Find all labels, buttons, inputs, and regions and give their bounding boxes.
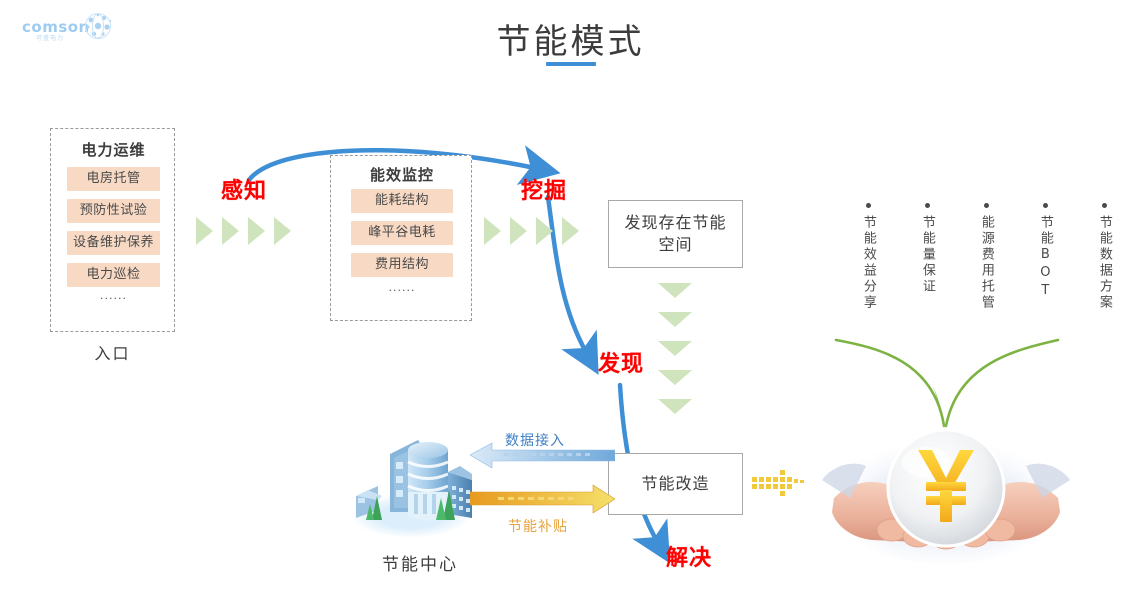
triangle-down-icon [658,312,692,327]
triangle-right-icon [222,217,239,245]
service-list: 节能效益分享 节能量保证 能源费用托管 节能BOT 节能数据方案 [855,203,1117,311]
entry-item-3[interactable]: 设备维护保养 [67,231,160,255]
service-item-4[interactable]: 节能数据方案 [1091,203,1117,311]
stage-label-discover: 发现 [598,346,644,378]
group-box-monitor: 能效监控 能耗结构 峰平谷电耗 费用结构 ······ [330,155,472,321]
exchange-arrows [470,440,615,520]
service-item-3[interactable]: 节能BOT [1032,203,1058,311]
triangle-right-icon [196,217,213,245]
group-heading-monitor: 能效监控 [331,164,473,185]
stage-label-mine: 挖掘 [521,173,567,205]
stage-label-solve: 解决 [666,540,712,572]
entry-item-1[interactable]: 电房托管 [67,167,160,191]
hands-holding-icon [818,330,1138,595]
arrow-row-mine [484,217,579,245]
service-item-label: 节能量保证 [920,215,934,295]
arrow-row-perceive [196,217,291,245]
title-underline [546,62,596,66]
bullet-dot-icon [925,203,930,208]
pixel-arrow-right-icon [752,465,812,497]
entry-item-2[interactable]: 预防性试验 [67,199,160,223]
triangle-down-icon [658,370,692,385]
triangle-right-icon [248,217,265,245]
service-item-label: 节能BOT [1038,215,1052,301]
building-icon [348,424,478,542]
node-energy-saving-space[interactable]: 发现存在节能 空间 [608,200,743,268]
service-item-0[interactable]: 节能效益分享 [855,203,881,311]
group-heading-entry: 电力运维 [51,139,176,160]
node-energy-retrofit[interactable]: 节能改造 [608,453,743,515]
center-caption: 节能中心 [355,550,485,575]
triangle-down-icon [658,341,692,356]
monitor-item-1[interactable]: 能耗结构 [351,189,453,213]
service-item-2[interactable]: 能源费用托管 [973,203,999,311]
triangle-right-icon [510,217,527,245]
service-item-label: 节能效益分享 [861,215,875,311]
monitor-item-2[interactable]: 峰平谷电耗 [351,221,453,245]
page-title: 节能模式 [0,14,1141,63]
entry-ellipsis: ······ [51,292,176,305]
bullet-dot-icon [984,203,989,208]
triangle-right-icon [562,217,579,245]
label-data-access: 数据接入 [505,430,565,450]
entry-item-4[interactable]: 电力巡检 [67,263,160,287]
triangle-right-icon [274,217,291,245]
service-item-label: 节能数据方案 [1097,215,1111,311]
group-box-entry: 电力运维 电房托管 预防性试验 设备维护保养 电力巡检 ······ [50,128,175,332]
triangle-right-icon [484,217,501,245]
service-item-1[interactable]: 节能量保证 [914,203,940,311]
monitor-item-3[interactable]: 费用结构 [351,253,453,277]
bullet-dot-icon [1043,203,1048,208]
group-caption-entry: 入口 [50,340,175,364]
stage-label-perceive: 感知 [221,173,267,205]
bullet-dot-icon [1102,203,1107,208]
triangle-down-icon [658,283,692,298]
triangle-down-icon [658,399,692,414]
label-energy-subsidy: 节能补贴 [508,516,568,536]
monitor-ellipsis: ······ [331,284,473,297]
node-line-1: 发现存在节能 [624,212,726,234]
node-retrofit-label: 节能改造 [641,473,709,495]
bullet-dot-icon [866,203,871,208]
node-line-2: 空间 [624,234,726,256]
triangle-right-icon [536,217,553,245]
service-item-label: 能源费用托管 [979,215,993,311]
arrow-column-down [658,283,692,414]
